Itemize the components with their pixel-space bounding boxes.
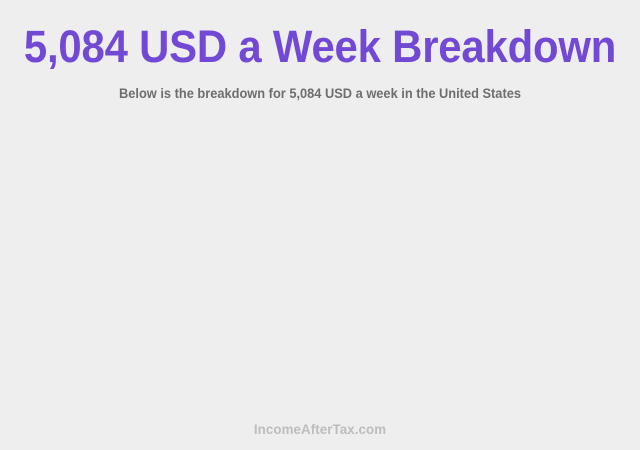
breakdown-page: 5,084 USD a Week Breakdown Below is the … [0, 0, 640, 450]
page-title: 5,084 USD a Week Breakdown [22, 22, 617, 72]
site-watermark: IncomeAfterTax.com [16, 421, 624, 438]
page-subtitle: Below is the breakdown for 5,084 USD a w… [16, 85, 624, 102]
chart-plot-area [0, 112, 640, 410]
